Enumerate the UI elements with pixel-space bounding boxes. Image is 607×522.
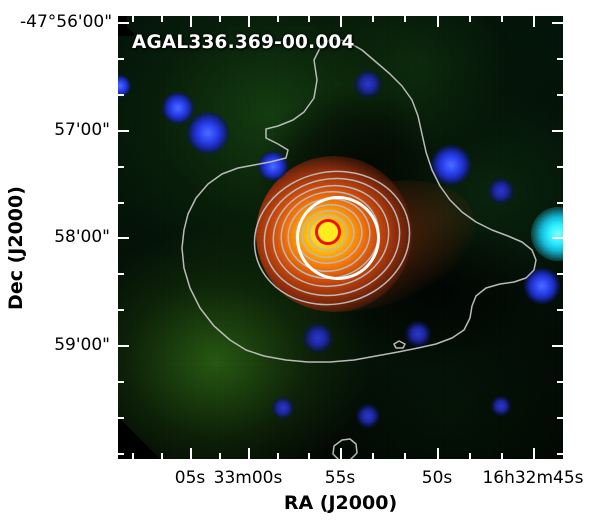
- y-axis-title: Dec (J2000): [5, 148, 27, 348]
- ytick-minor-a: [118, 58, 124, 60]
- xtick-label-3: 50s: [422, 468, 453, 488]
- ytick-minor-g: [118, 381, 124, 383]
- xtick-top-minor-e: [308, 16, 310, 22]
- ytick-right-major-1: [552, 22, 563, 24]
- ytick-right-major-3: [552, 237, 563, 239]
- ytick-label-1: 57'00": [20, 120, 110, 140]
- ytick-minor-i: [118, 453, 124, 455]
- xtick-minor-g: [404, 453, 406, 459]
- contour-small-blob-south: [333, 439, 357, 459]
- ytick-right-major-4: [552, 345, 563, 347]
- xtick-minor-c: [219, 453, 221, 459]
- xtick-major-1: [190, 448, 192, 459]
- contour-outer-envelope: [182, 38, 536, 362]
- ytick-label-3: 59'00": [20, 335, 110, 355]
- ytick-right-minor-f: [557, 309, 563, 311]
- xtick-label-2: 55s: [325, 468, 356, 488]
- ytick-right-minor-a: [557, 58, 563, 60]
- ytick-minor-c: [118, 166, 124, 168]
- ytick-minor-h: [118, 417, 124, 419]
- no-data-corner-bottom-left: [118, 415, 162, 459]
- ytick-minor-f: [118, 309, 124, 311]
- astronomical-figure: AGAL336.369-00.004: [0, 0, 607, 522]
- xtick-top-minor-c: [219, 16, 221, 22]
- ytick-right-major-2: [552, 130, 563, 132]
- xtick-top-major-3: [340, 16, 342, 27]
- xtick-minor-a: [132, 453, 134, 459]
- ytick-major-1: [118, 22, 129, 24]
- xtick-top-minor-b: [161, 16, 163, 22]
- peak-marker-annotation: [315, 219, 341, 245]
- xtick-top-minor-g: [404, 16, 406, 22]
- xtick-minor-b: [161, 453, 163, 459]
- xtick-minor-e: [308, 453, 310, 459]
- ytick-label-2: 58'00": [20, 227, 110, 247]
- ytick-right-minor-c: [557, 166, 563, 168]
- xtick-top-minor-f: [372, 16, 374, 22]
- ytick-right-minor-b: [557, 94, 563, 96]
- xtick-top-minor-h: [469, 16, 471, 22]
- xtick-top-major-4: [437, 16, 439, 27]
- xtick-major-2: [248, 448, 250, 459]
- xtick-label-1: 33m00s: [214, 468, 283, 488]
- xtick-top-major-5: [533, 16, 535, 27]
- xtick-top-minor-a: [132, 16, 134, 22]
- xtick-top-minor-i: [501, 16, 503, 22]
- xtick-major-4: [437, 448, 439, 459]
- x-axis-title: RA (J2000): [118, 492, 563, 514]
- ytick-minor-e: [118, 273, 124, 275]
- source-name-label: AGAL336.369-00.004: [132, 32, 355, 53]
- ytick-minor-d: [118, 202, 124, 204]
- ytick-right-minor-d: [557, 202, 563, 204]
- ytick-right-minor-h: [557, 417, 563, 419]
- xtick-minor-i: [501, 453, 503, 459]
- ytick-major-3: [118, 237, 129, 239]
- contour-speck-southeast: [394, 341, 405, 348]
- ytick-right-minor-g: [557, 381, 563, 383]
- ytick-right-minor-e: [557, 273, 563, 275]
- xtick-label-4: 16h32m45s: [482, 468, 583, 488]
- ytick-major-4: [118, 345, 129, 347]
- xtick-top-major-2: [248, 16, 250, 27]
- xtick-minor-f: [372, 453, 374, 459]
- xtick-minor-d: [277, 453, 279, 459]
- ytick-right-minor-i: [557, 453, 563, 455]
- xtick-minor-h: [469, 453, 471, 459]
- ytick-label-0: -47°56'00": [20, 12, 110, 32]
- xtick-major-5: [533, 448, 535, 459]
- ytick-minor-b: [118, 94, 124, 96]
- ytick-major-2: [118, 130, 129, 132]
- xtick-top-major-1: [190, 16, 192, 27]
- xtick-label-0: 05s: [175, 468, 206, 488]
- image-panel[interactable]: AGAL336.369-00.004: [118, 16, 563, 459]
- xtick-major-3: [340, 448, 342, 459]
- xtick-top-minor-d: [277, 16, 279, 22]
